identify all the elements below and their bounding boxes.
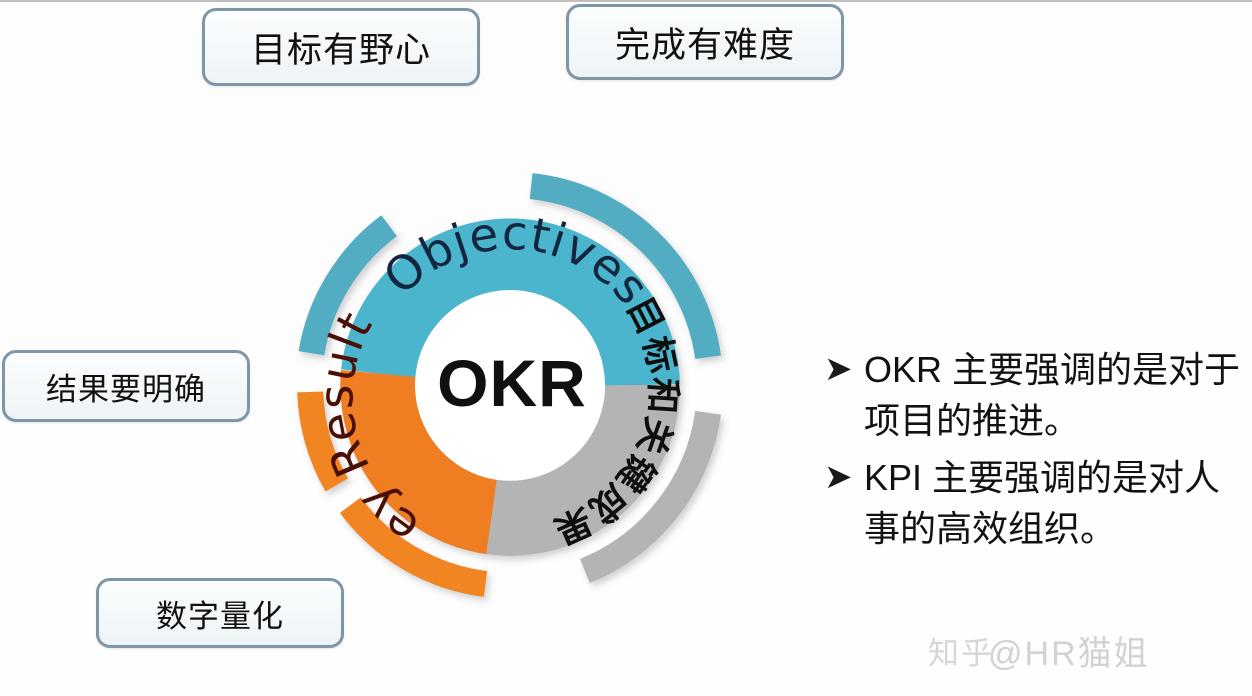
callout-ambitious[interactable]: 目标有野心 (202, 8, 480, 86)
watermark-site: 知乎 (928, 628, 994, 673)
bullet-item-kpi: ➤ KPI 主要强调的是对人事的高效组织。 (824, 452, 1244, 554)
watermark-handle: @HR猫姐 (988, 635, 1150, 673)
callout-clear-label: 结果要明确 (46, 364, 206, 409)
arrow-bullet-icon: ➤ (824, 452, 864, 502)
callout-quantify-label: 数字量化 (156, 591, 284, 636)
top-edge-rule (0, 0, 1252, 2)
callout-clear[interactable]: 结果要明确 (2, 350, 250, 422)
bullet-item-okr: ➤ OKR 主要强调的是对于项目的推进。 (824, 344, 1244, 446)
callout-ambitious-label: 目标有野心 (251, 22, 431, 73)
diagram-canvas: 目标有野心 完成有难度 结果要明确 数字量化 (0, 0, 1252, 696)
callout-difficult-label: 完成有难度 (615, 17, 795, 68)
bullet-text-okr: OKR 主要强调的是对于项目的推进。 (864, 344, 1244, 446)
bullet-text-kpi: KPI 主要强调的是对人事的高效组织。 (864, 452, 1244, 554)
arrow-bullet-icon: ➤ (824, 344, 864, 394)
callout-difficult[interactable]: 完成有难度 (566, 4, 844, 80)
okr-wheel: Objectives Key Results “目标和关键成果” (270, 145, 750, 625)
bullet-list: ➤ OKR 主要强调的是对于项目的推进。 ➤ KPI 主要强调的是对人事的高效组… (824, 344, 1244, 560)
watermark: 知乎 @HR猫姐 (988, 626, 1150, 675)
